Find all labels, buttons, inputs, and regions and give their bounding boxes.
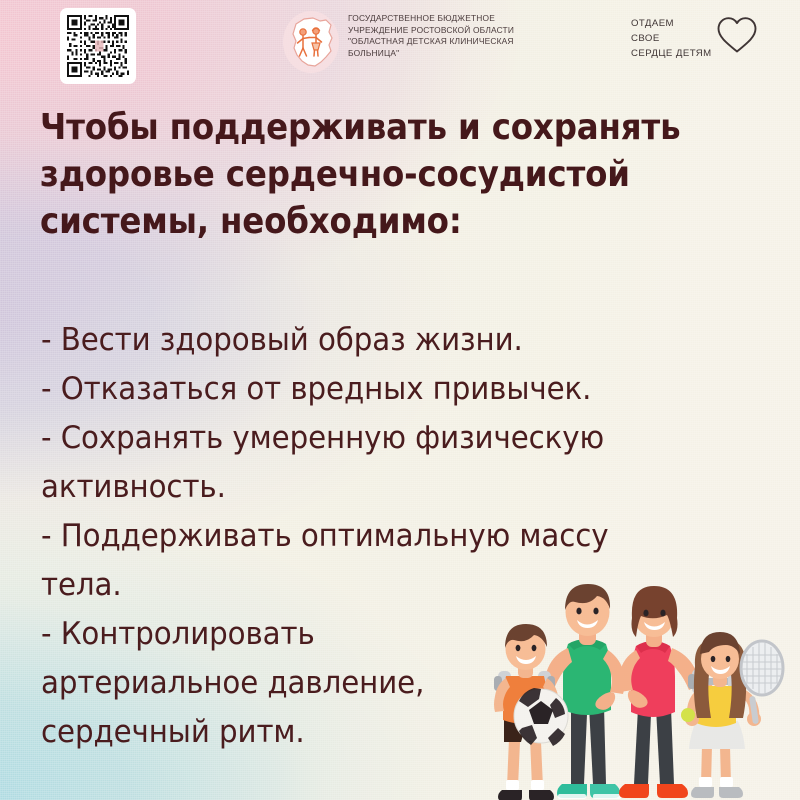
slogan-line-3: СЕРДЦЕ ДЕТЯМ [631, 46, 712, 61]
list-item: - Вести здоровый образ жизни. [41, 316, 740, 365]
hospital-logo-line-3: "ОБЛАСТНАЯ ДЕТСКАЯ КЛИНИЧЕСКАЯ [348, 36, 514, 48]
slogan-text: ОТДАЕМ СВОЕ СЕРДЦЕ ДЕТЯМ [631, 16, 712, 61]
slogan-line-2: СВОЕ [631, 31, 712, 46]
tennis-racket-icon [741, 641, 783, 724]
poster-canvas: ГОСУДАРСТВЕННОЕ БЮДЖЕТНОЕ УЧРЕЖДЕНИЕ РОС… [0, 0, 800, 800]
qr-code-icon[interactable] [67, 15, 129, 77]
qr-code-card [60, 8, 136, 84]
heart-icon [716, 16, 758, 54]
hospital-logo-line-4: БОЛЬНИЦА" [348, 48, 514, 60]
girl-with-tennis-racket-figure [681, 632, 783, 798]
page-title-line-1: Чтобы поддерживать и сохранять [40, 104, 681, 151]
boy-with-soccer-ball-figure [494, 624, 568, 800]
slogan-line-1: ОТДАЕМ [631, 16, 712, 31]
page-title-line-2: здоровье сердечно-сосудистой [40, 151, 681, 198]
sporty-family-illustration [492, 556, 800, 800]
list-item: - Сохранять умеренную физическую [41, 414, 740, 463]
hospital-logo: ГОСУДАРСТВЕННОЕ БЮДЖЕТНОЕ УЧРЕЖДЕНИЕ РОС… [282, 10, 514, 74]
hospital-logo-line-1: ГОСУДАРСТВЕННОЕ БЮДЖЕТНОЕ [348, 13, 514, 25]
list-item: - Поддерживать оптимальную массу [41, 512, 740, 561]
page-title-line-3: системы, необходимо: [40, 198, 681, 245]
hospital-logo-mark-icon [282, 10, 340, 74]
tennis-ball-icon [681, 708, 695, 722]
list-item: активность. [41, 463, 740, 512]
hospital-logo-line-2: УЧРЕЖДЕНИЕ РОСТОВСКОЙ ОБЛАСТИ [348, 25, 514, 37]
slogan-block: ОТДАЕМ СВОЕ СЕРДЦЕ ДЕТЯМ [631, 16, 758, 61]
list-item: - Отказаться от вредных привычек. [41, 365, 740, 414]
page-title: Чтобы поддерживать и сохранять здоровье … [40, 104, 681, 245]
poster-header: ГОСУДАРСТВЕННОЕ БЮДЖЕТНОЕ УЧРЕЖДЕНИЕ РОС… [0, 0, 800, 92]
hospital-logo-text: ГОСУДАРСТВЕННОЕ БЮДЖЕТНОЕ УЧРЕЖДЕНИЕ РОС… [348, 10, 514, 59]
